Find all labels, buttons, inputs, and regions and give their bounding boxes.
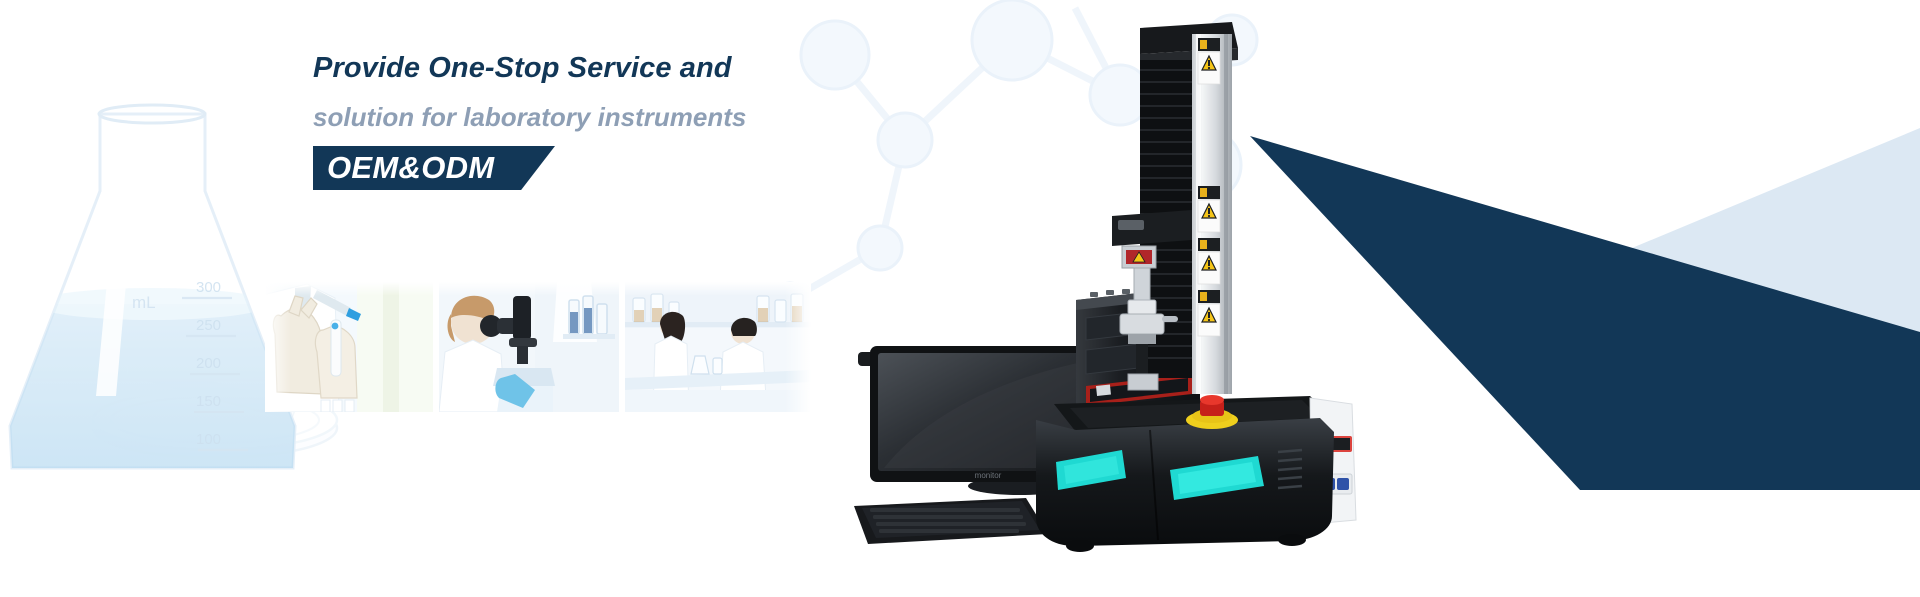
badge-label: OEM&ODM: [313, 146, 514, 190]
universal-testing-machine: [1036, 22, 1356, 552]
photo-strip: [265, 282, 811, 412]
photo-fade-top: [625, 282, 811, 296]
oem-odm-badge[interactable]: OEM&ODM: [313, 146, 514, 190]
photo-microscope[interactable]: [439, 282, 619, 412]
svg-text:300: 300: [196, 279, 221, 296]
svg-text:150: 150: [196, 393, 221, 410]
svg-text:200: 200: [196, 355, 221, 372]
photo-lab-bench[interactable]: [625, 282, 811, 412]
photo-fade-top: [439, 282, 619, 296]
warning-label: [1198, 238, 1220, 284]
warning-label: [1198, 186, 1220, 232]
photo-pipetting[interactable]: [265, 282, 433, 412]
svg-text:mL: mL: [132, 293, 156, 312]
keyboard: [854, 498, 1048, 544]
warning-label: [1198, 290, 1220, 336]
svg-text:250: 250: [196, 317, 221, 334]
photo-fade-top: [265, 282, 433, 296]
warning-label: [1198, 38, 1220, 84]
svg-text:100: 100: [196, 431, 221, 448]
photo-fade-left: [265, 282, 291, 412]
photo-fade-right: [785, 282, 811, 412]
warning-label-group: [1198, 38, 1220, 336]
promo-banner: 300 250 200 150 100 mL Provide One-Stop …: [0, 0, 1920, 597]
hardware-group: monitor: [840, 0, 1540, 560]
svg-text:monitor: monitor: [975, 471, 1002, 480]
